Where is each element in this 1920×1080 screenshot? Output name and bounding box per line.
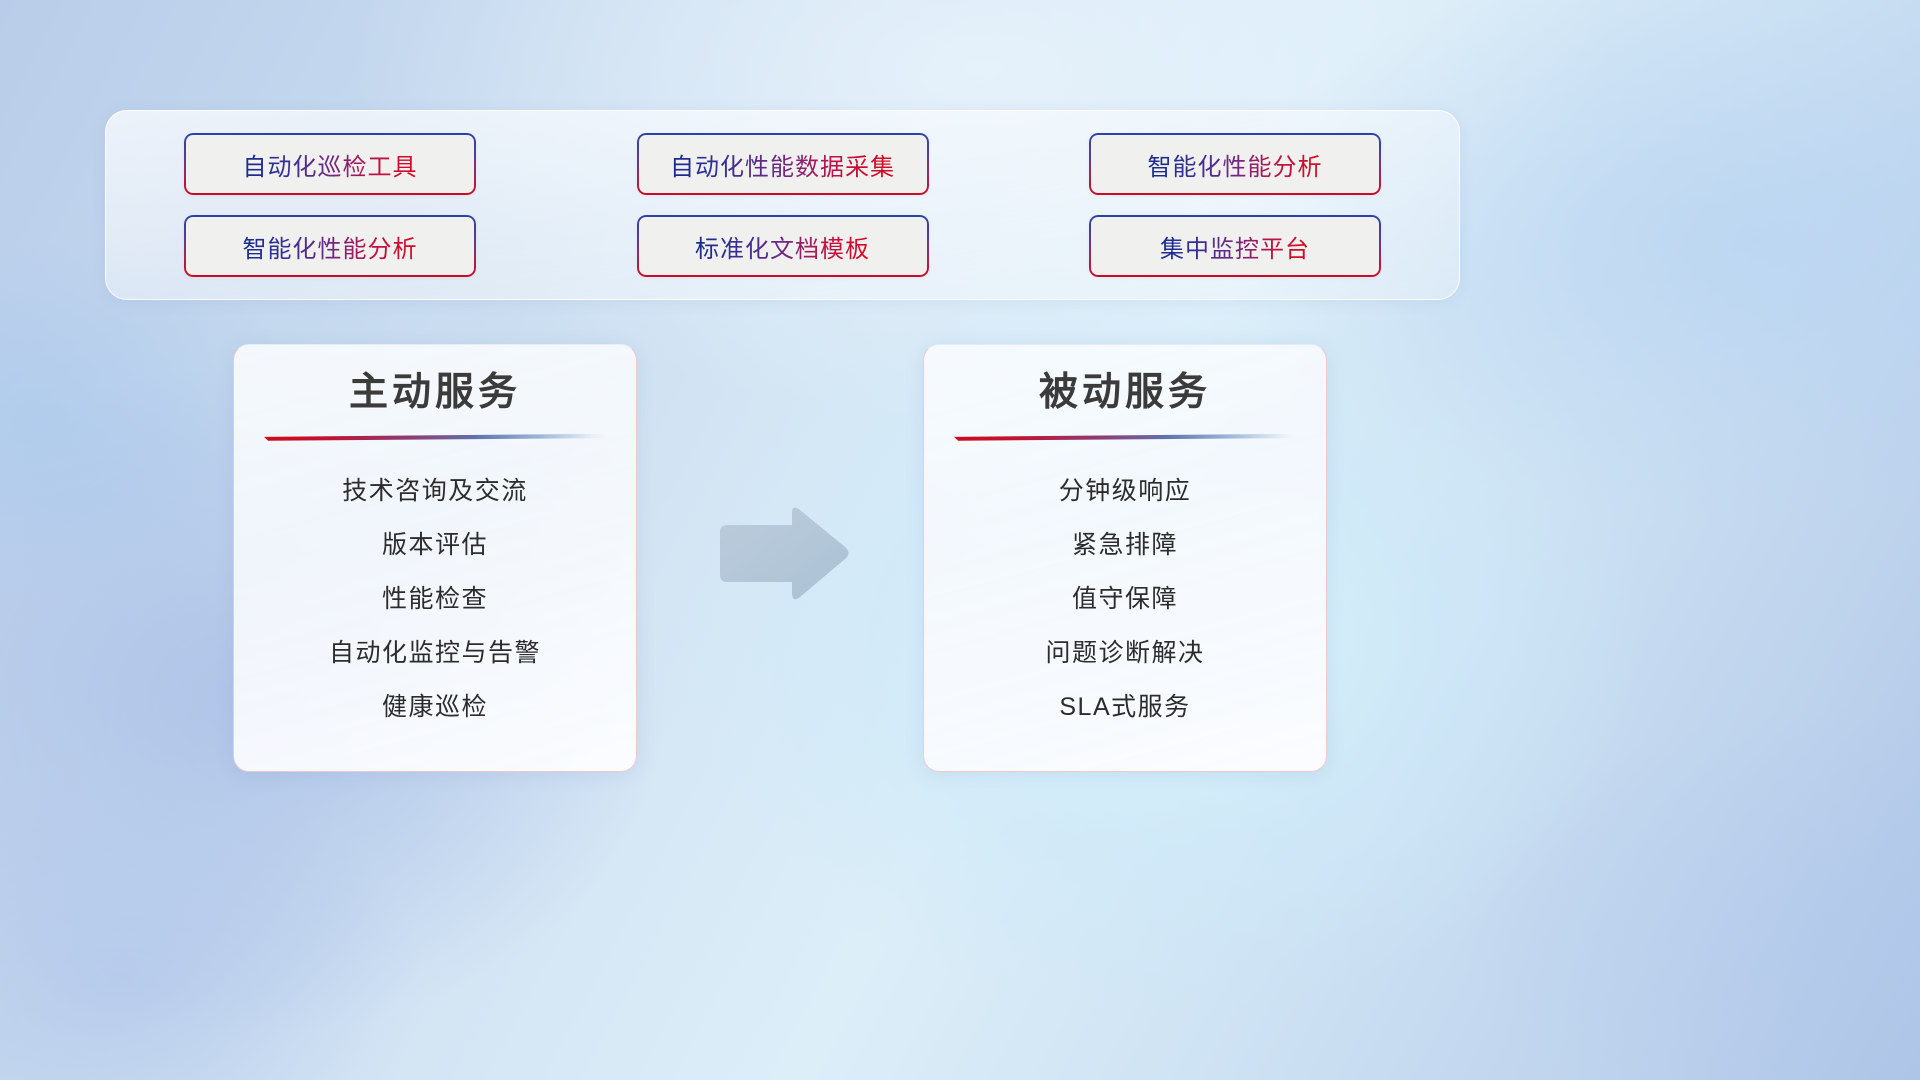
service-list-item: 健康巡检 [382,692,488,722]
capability-tag[interactable]: 标准化文档模板 [637,215,929,277]
capability-tag-label: 智能化性能分析 [243,229,418,264]
service-item-list: 技术咨询及交流 版本评估 性能检查 自动化监控与告警 健康巡检 [264,476,606,722]
service-card-reactive: 被动服务 分钟级响应 紧急排障 值守保障 问题诊断解决 SLA式服务 [923,344,1327,772]
service-list-item: 版本评估 [382,530,488,560]
service-list-item: 性能检查 [382,584,488,614]
arrow-right-icon [712,500,854,610]
title-underline-bar [954,434,1296,441]
service-list-item: 技术咨询及交流 [342,476,528,506]
capability-tag[interactable]: 智能化性能分析 [184,215,476,277]
service-list-item: SLA式服务 [1059,692,1190,722]
service-list-item: 紧急排障 [1072,530,1178,560]
service-list-item: 自动化监控与告警 [329,638,541,668]
service-card-title: 被动服务 [954,369,1296,418]
capability-tag-label: 自动化巡检工具 [243,147,418,182]
service-list-item: 分钟级响应 [1059,476,1192,506]
capability-tag[interactable]: 自动化性能数据采集 [637,133,929,195]
capability-tag-label: 集中监控平台 [1160,229,1310,264]
service-card-proactive: 主动服务 技术咨询及交流 版本评估 性能检查 自动化监控与告警 健康巡检 [233,344,637,772]
title-underline-bar [264,434,606,441]
service-item-list: 分钟级响应 紧急排障 值守保障 问题诊断解决 SLA式服务 [954,476,1296,722]
capability-tag-label: 标准化文档模板 [695,229,870,264]
capability-tag[interactable]: 集中监控平台 [1089,215,1381,277]
capability-tags-panel: 自动化巡检工具 自动化性能数据采集 智能化性能分析 智能化性能分析 标准化文档模… [105,110,1460,300]
capability-tag-label: 智能化性能分析 [1148,147,1323,182]
capability-tag[interactable]: 自动化巡检工具 [184,133,476,195]
title-underline-accent [264,434,606,442]
service-card-title: 主动服务 [264,369,606,418]
capability-tag-label: 自动化性能数据采集 [670,147,895,182]
capability-tag-row-2: 智能化性能分析 标准化文档模板 集中监控平台 [184,215,1381,277]
service-list-item: 问题诊断解决 [1045,638,1204,668]
title-underline-accent [954,434,1296,442]
capability-tag[interactable]: 智能化性能分析 [1089,133,1381,195]
capability-tag-row-1: 自动化巡检工具 自动化性能数据采集 智能化性能分析 [184,133,1381,195]
service-list-item: 值守保障 [1072,584,1178,614]
